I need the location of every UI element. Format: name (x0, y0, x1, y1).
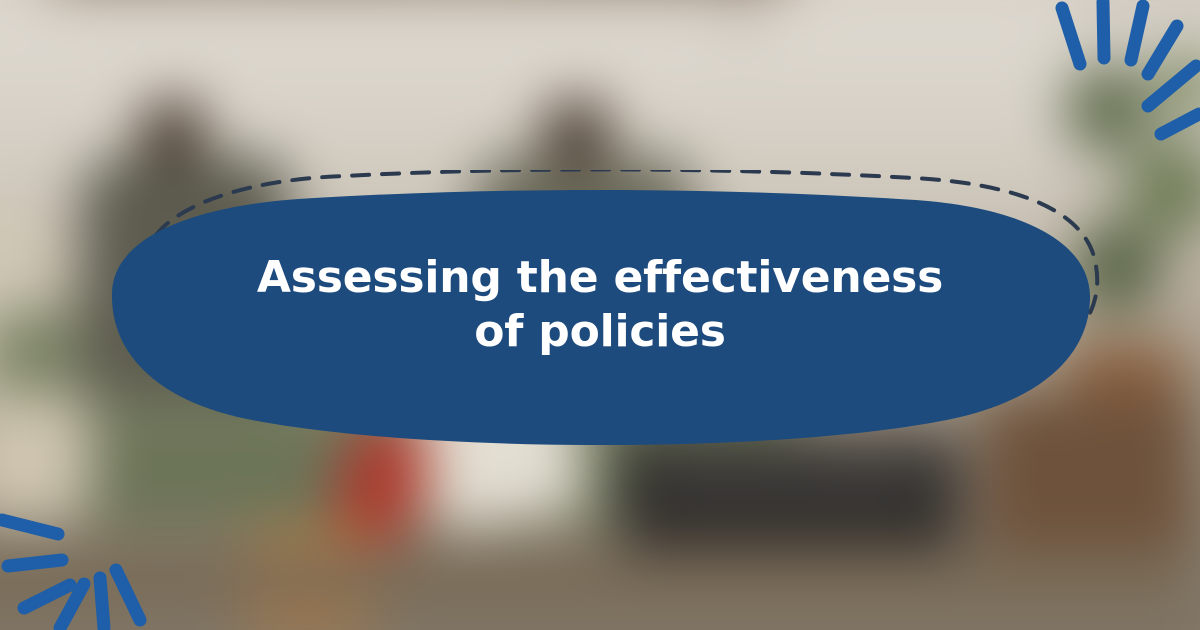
badge-text-container: Assessing the effectiveness of policies (100, 170, 1100, 445)
title-badge: Assessing the effectiveness of policies (100, 170, 1100, 445)
page-title-line-2: of policies (474, 306, 726, 357)
page-title-line-1: Assessing the effectiveness (257, 252, 943, 303)
share-card-canvas: Assessing the effectiveness of policies (0, 0, 1200, 630)
person-head (542, 98, 612, 168)
person-head (139, 98, 207, 168)
floor (0, 548, 1194, 612)
cushion (0, 395, 91, 522)
television-glow (653, 456, 929, 494)
hanging-cord (738, 0, 742, 45)
page-title: Assessing the effectiveness of policies (257, 251, 943, 358)
